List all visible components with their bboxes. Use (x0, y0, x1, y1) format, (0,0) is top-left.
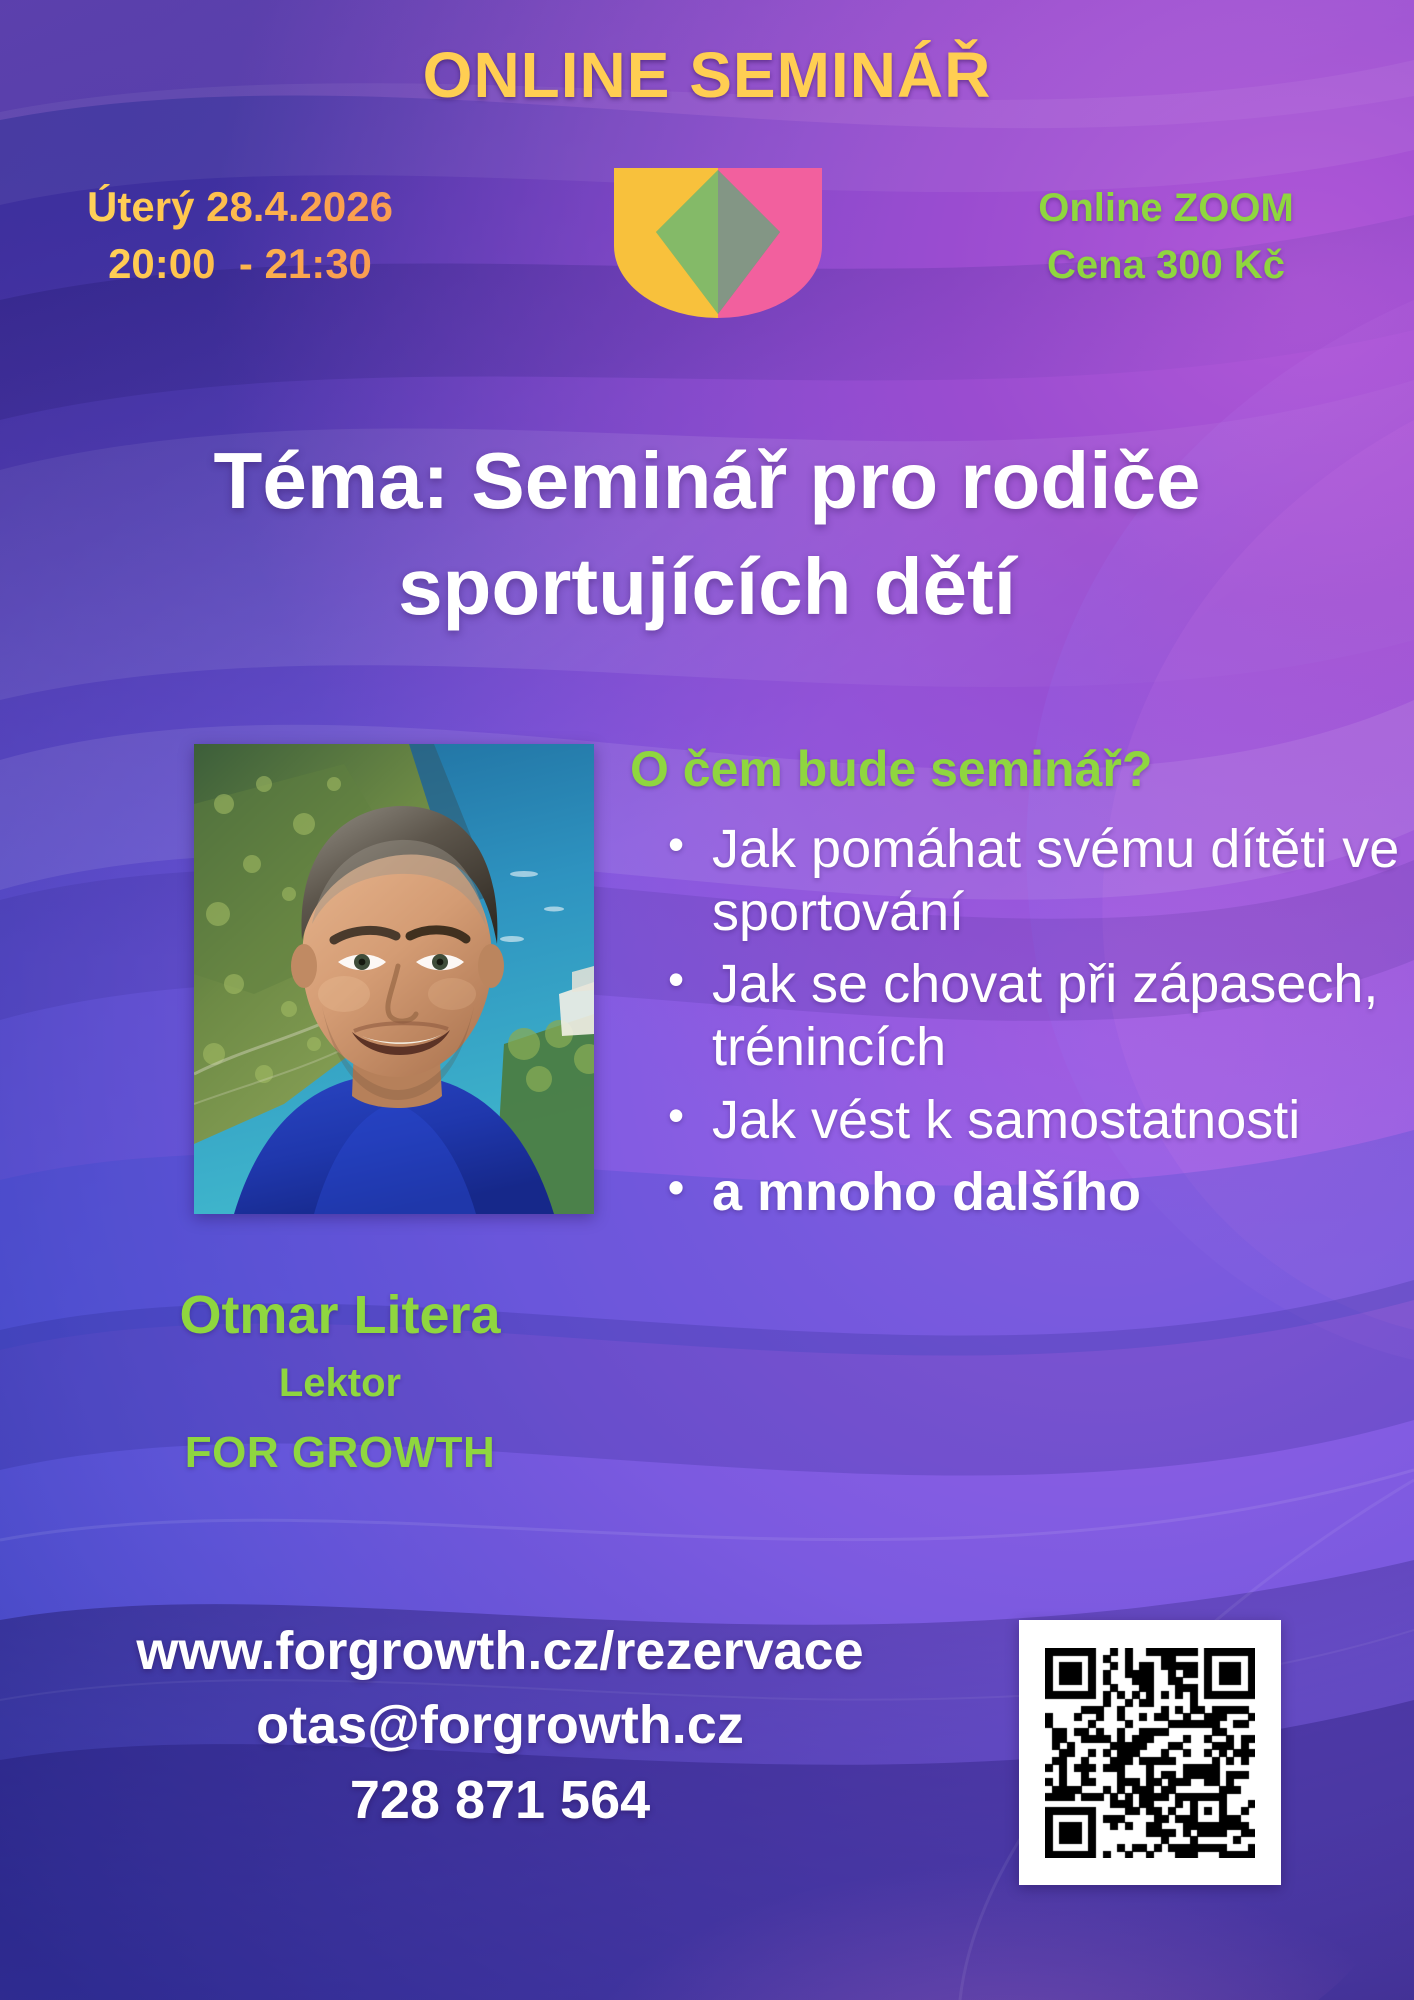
speaker-name: Otmar Litera (60, 1285, 620, 1345)
contact-phone[interactable]: 728 871 564 (40, 1769, 960, 1833)
event-date: Úterý 28.4.2026 (50, 178, 430, 235)
page-title-line-2: sportujících dětí (70, 534, 1344, 640)
agenda-item: Jak pomáhat svému dítěti ve sportování (660, 818, 1400, 943)
speaker-info-block: Otmar Litera Lektor FOR GROWTH (60, 1285, 620, 1478)
delivery-platform: Online ZOOM (966, 180, 1366, 237)
contact-website[interactable]: www.forgrowth.cz/rezervace (40, 1620, 960, 1684)
poster-headline: ONLINE SEMINÁŘ (0, 38, 1414, 112)
agenda-heading: O čem bude seminář? (630, 740, 1152, 798)
agenda-item: a mnoho dalšího (660, 1161, 1400, 1224)
agenda-item: Jak se chovat při zápasech, trénincích (660, 953, 1400, 1078)
delivery-price: Cena 300 Kč (966, 237, 1366, 294)
contact-block: www.forgrowth.cz/rezervace otas@forgrowt… (40, 1620, 960, 1833)
forgrowth-lotus-logo-icon (604, 168, 832, 318)
poster-canvas: ONLINE SEMINÁŘ Úterý 28.4.2026 20:00 - 2… (0, 0, 1414, 2000)
page-title: Téma: Seminář pro rodiče sportujících dě… (70, 428, 1344, 639)
contact-email[interactable]: otas@forgrowth.cz (40, 1694, 960, 1758)
page-title-line-1: Téma: Seminář pro rodiče (70, 428, 1344, 534)
delivery-info-block: Online ZOOM Cena 300 Kč (966, 180, 1366, 294)
agenda-list: Jak pomáhat svému dítěti ve sportováníJa… (660, 818, 1400, 1234)
qr-code[interactable] (1019, 1620, 1281, 1885)
speaker-photo (194, 744, 594, 1214)
speaker-role: Lektor (60, 1361, 620, 1405)
event-time: 20:00 - 21:30 (50, 235, 430, 292)
speaker-organization: FOR GROWTH (60, 1429, 620, 1477)
event-datetime-block: Úterý 28.4.2026 20:00 - 21:30 (50, 178, 430, 292)
agenda-item: Jak vést k samostatnosti (660, 1089, 1400, 1152)
